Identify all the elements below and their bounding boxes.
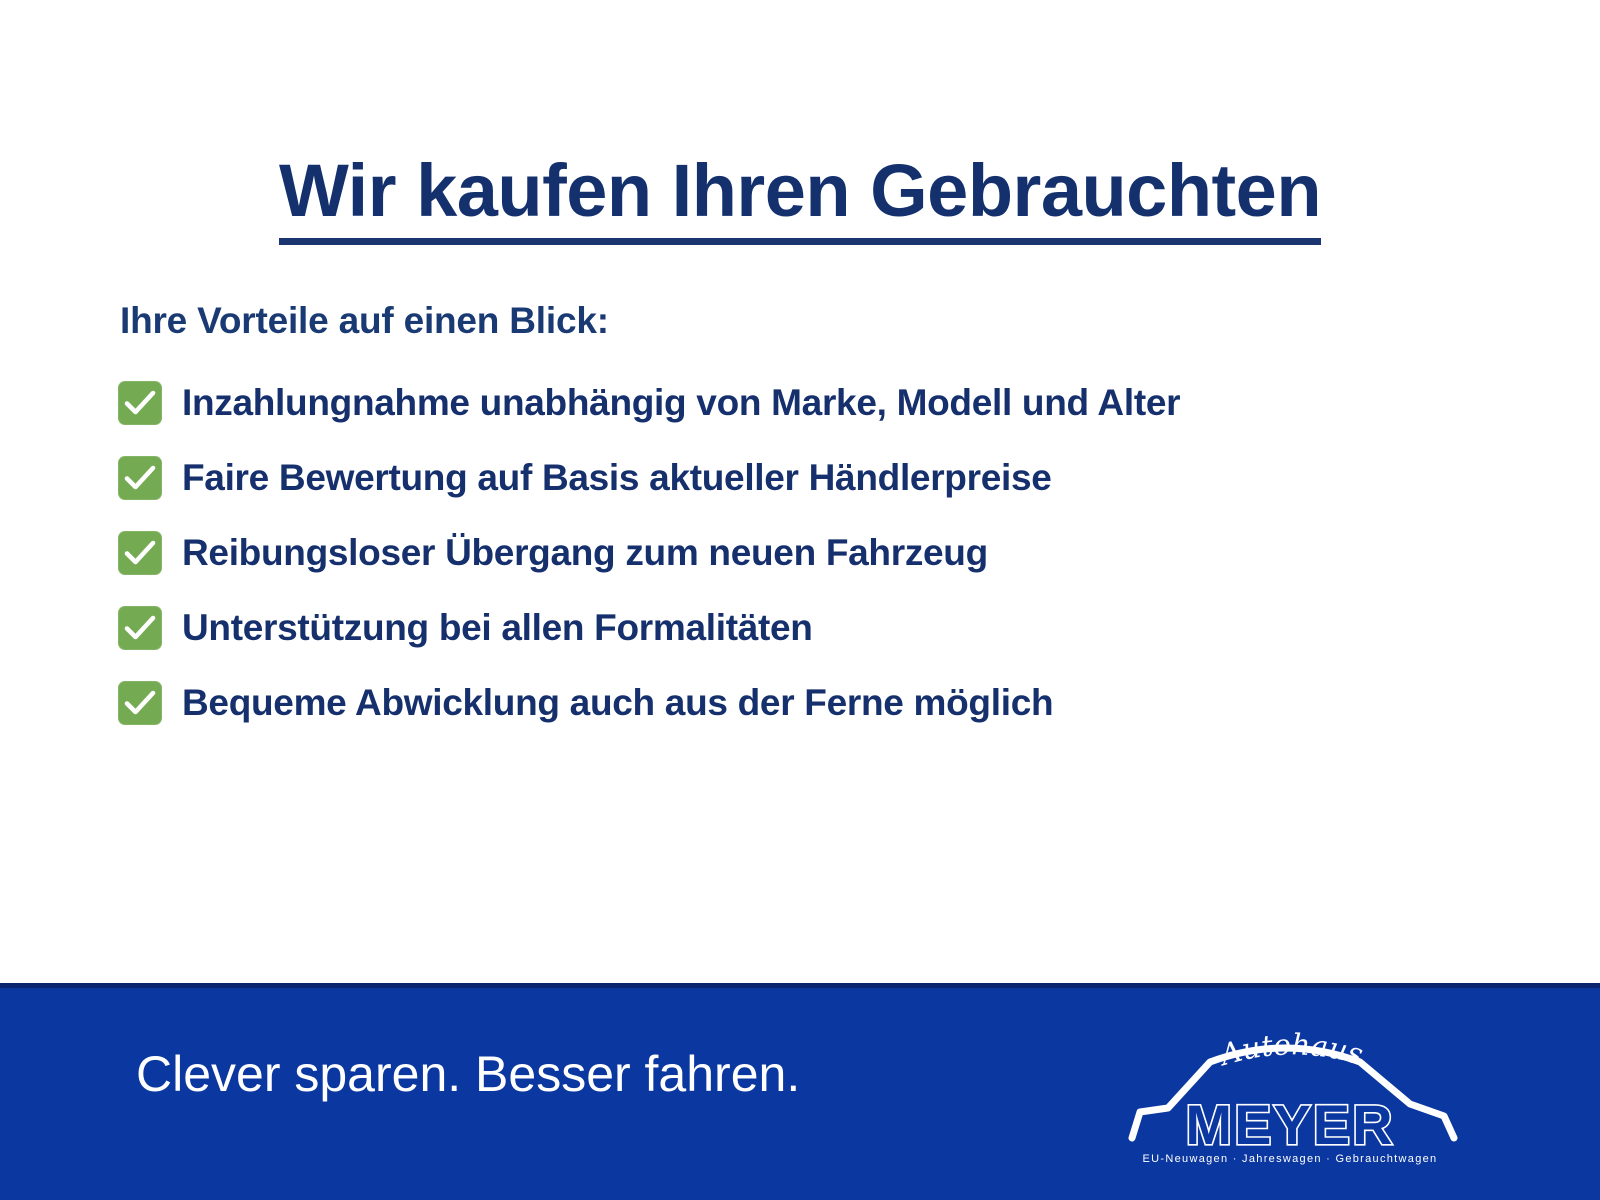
logo-script-text: Autohaus xyxy=(1214,1027,1367,1073)
benefits-list: Inzahlungnahme unabhängig von Marke, Mod… xyxy=(118,372,1518,747)
dealer-logo[interactable]: Autohaus MEYER EU-Neuwagen · Jahreswagen… xyxy=(1110,1000,1470,1170)
logo-word-mark: MEYER xyxy=(1185,1093,1394,1156)
promo-poster: Wir kaufen Ihren Gebrauchten Ihre Vortei… xyxy=(0,0,1600,1200)
footer-band: Clever sparen. Besser fahren. Autohaus M… xyxy=(0,983,1600,1200)
check-square-icon xyxy=(118,456,162,500)
check-square-icon xyxy=(118,381,162,425)
logo-script-name: Autohaus xyxy=(1214,1027,1367,1073)
check-square-icon xyxy=(118,531,162,575)
benefits-heading: Ihre Vorteile auf einen Blick: xyxy=(120,300,609,342)
list-item-label: Inzahlungnahme unabhängig von Marke, Mod… xyxy=(182,384,1180,423)
check-square-icon xyxy=(118,681,162,725)
list-item: Bequeme Abwicklung auch aus der Ferne mö… xyxy=(118,672,1518,734)
page-title: Wir kaufen Ihren Gebrauchten xyxy=(279,154,1321,245)
footer-slogan: Clever sparen. Besser fahren. xyxy=(136,1045,800,1103)
list-item-label: Faire Bewertung auf Basis aktueller Händ… xyxy=(182,459,1052,498)
logo-tagline: EU-Neuwagen · Jahreswagen · Gebrauchtwag… xyxy=(1143,1153,1438,1165)
list-item: Inzahlungnahme unabhängig von Marke, Mod… xyxy=(118,372,1518,434)
list-item: Faire Bewertung auf Basis aktueller Händ… xyxy=(118,447,1518,509)
list-item-label: Reibungsloser Übergang zum neuen Fahrzeu… xyxy=(182,534,988,573)
list-item: Unterstützung bei allen Formalitäten xyxy=(118,597,1518,659)
list-item-label: Bequeme Abwicklung auch aus der Ferne mö… xyxy=(182,684,1053,723)
check-square-icon xyxy=(118,606,162,650)
page-title-container: Wir kaufen Ihren Gebrauchten xyxy=(0,104,1600,294)
list-item-label: Unterstützung bei allen Formalitäten xyxy=(182,609,813,648)
list-item: Reibungsloser Übergang zum neuen Fahrzeu… xyxy=(118,522,1518,584)
